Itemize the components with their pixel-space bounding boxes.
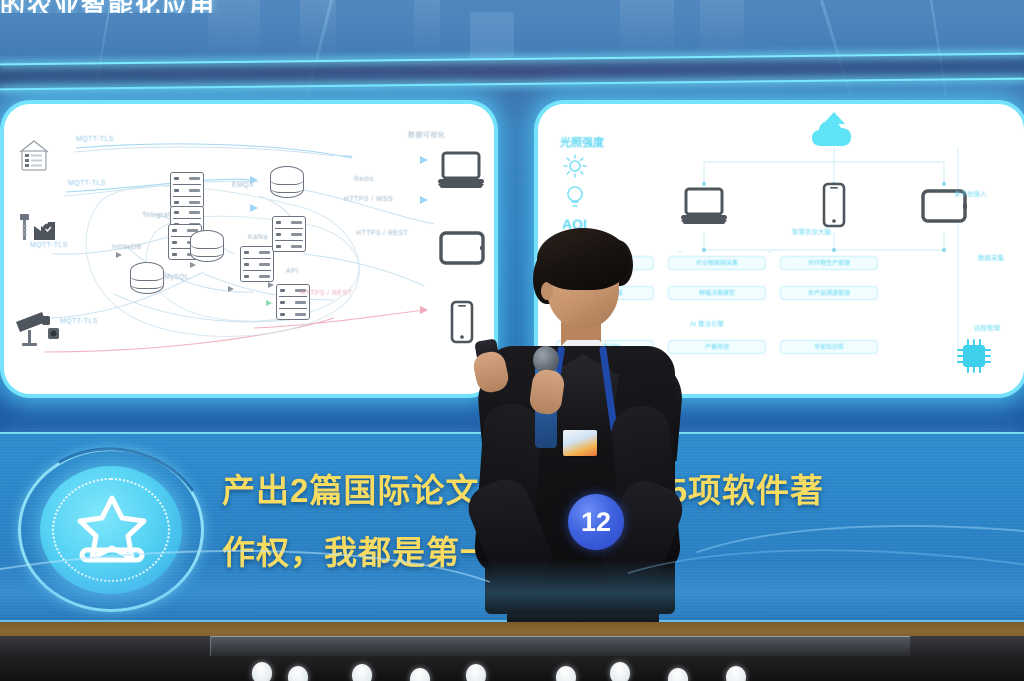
diagram-label: API <box>286 268 298 275</box>
wall-panel-3 <box>414 0 440 58</box>
diagram-label: MQTT-TLS <box>30 242 68 249</box>
laptop-icon <box>436 150 486 195</box>
glass-rail <box>210 636 910 656</box>
stage-flower <box>610 662 630 681</box>
contestant-number-badge: 12 <box>568 494 624 550</box>
stage-floor <box>0 622 1024 681</box>
stage-flower <box>252 662 272 681</box>
label-brain: 智慧农业大脑 <box>792 226 831 236</box>
wall-panel-5 <box>620 0 674 58</box>
label-remote-manage: 远程管理 <box>974 322 1000 332</box>
hair <box>537 228 629 290</box>
smart-home-icon <box>14 138 54 177</box>
diagram-label: 数据可视化 <box>408 130 445 140</box>
stage-flower <box>556 666 576 681</box>
stage-photo: 的农业智能化应用 <box>0 0 1024 681</box>
diagram-label: Telegraf <box>142 212 170 219</box>
cctv-camera-icon <box>12 306 60 355</box>
stage-flower <box>352 664 372 681</box>
diagram-label: InfluxDB <box>112 244 142 251</box>
server-rack-emqx <box>170 172 204 208</box>
diagram-label: MySQL <box>164 274 189 281</box>
diagram-label: MQTT-TLS <box>76 136 114 143</box>
diagram-label: MQTT-TLS <box>68 180 106 187</box>
label-multi-platform: 多平台接入 <box>954 188 987 198</box>
database-mysql <box>130 262 164 294</box>
server-rack-extra <box>272 216 306 252</box>
database-redis <box>190 230 224 262</box>
diagram-label: HTTPS / REST <box>356 230 408 237</box>
database-influxdb <box>270 166 304 198</box>
diagram-label: Kafka <box>248 234 268 241</box>
diagram-label: MQTT-TLS <box>60 318 98 325</box>
server-rack-kafka <box>240 246 274 282</box>
stage-flower <box>726 666 746 681</box>
function-box[interactable]: 农产品溯源管理 <box>780 286 878 300</box>
wall-panel-4 <box>470 12 514 58</box>
laptop-icon <box>678 186 730 233</box>
slide-left-content: MQTT-TLS MQTT-TLS MQTT-TLS MQTT-TLS EMQX… <box>4 104 494 394</box>
diagram-label: HTTPS / REST <box>300 290 352 297</box>
diagram-label: EMQX <box>232 182 254 189</box>
cpu-chip-icon <box>954 336 994 381</box>
label-ai-engine: AI 算法引擎 <box>690 318 724 328</box>
screen-title-clipped: 的农业智能化应用 <box>0 0 300 13</box>
stage-flower <box>288 666 308 681</box>
diagram-label: HTTPS / WSS <box>344 196 393 203</box>
label-data-collect: 数据采集 <box>978 252 1004 262</box>
function-box[interactable]: 农作物生产管理 <box>780 256 878 270</box>
function-box[interactable]: 专家知识库 <box>780 340 878 354</box>
stage-flower <box>466 664 486 681</box>
diagram-label: Redis <box>354 176 374 183</box>
lanyard-id-card <box>563 430 597 456</box>
wall-panel-6 <box>700 0 744 58</box>
slide-panel-left[interactable]: MQTT-TLS MQTT-TLS MQTT-TLS MQTT-TLS EMQX… <box>4 104 494 394</box>
